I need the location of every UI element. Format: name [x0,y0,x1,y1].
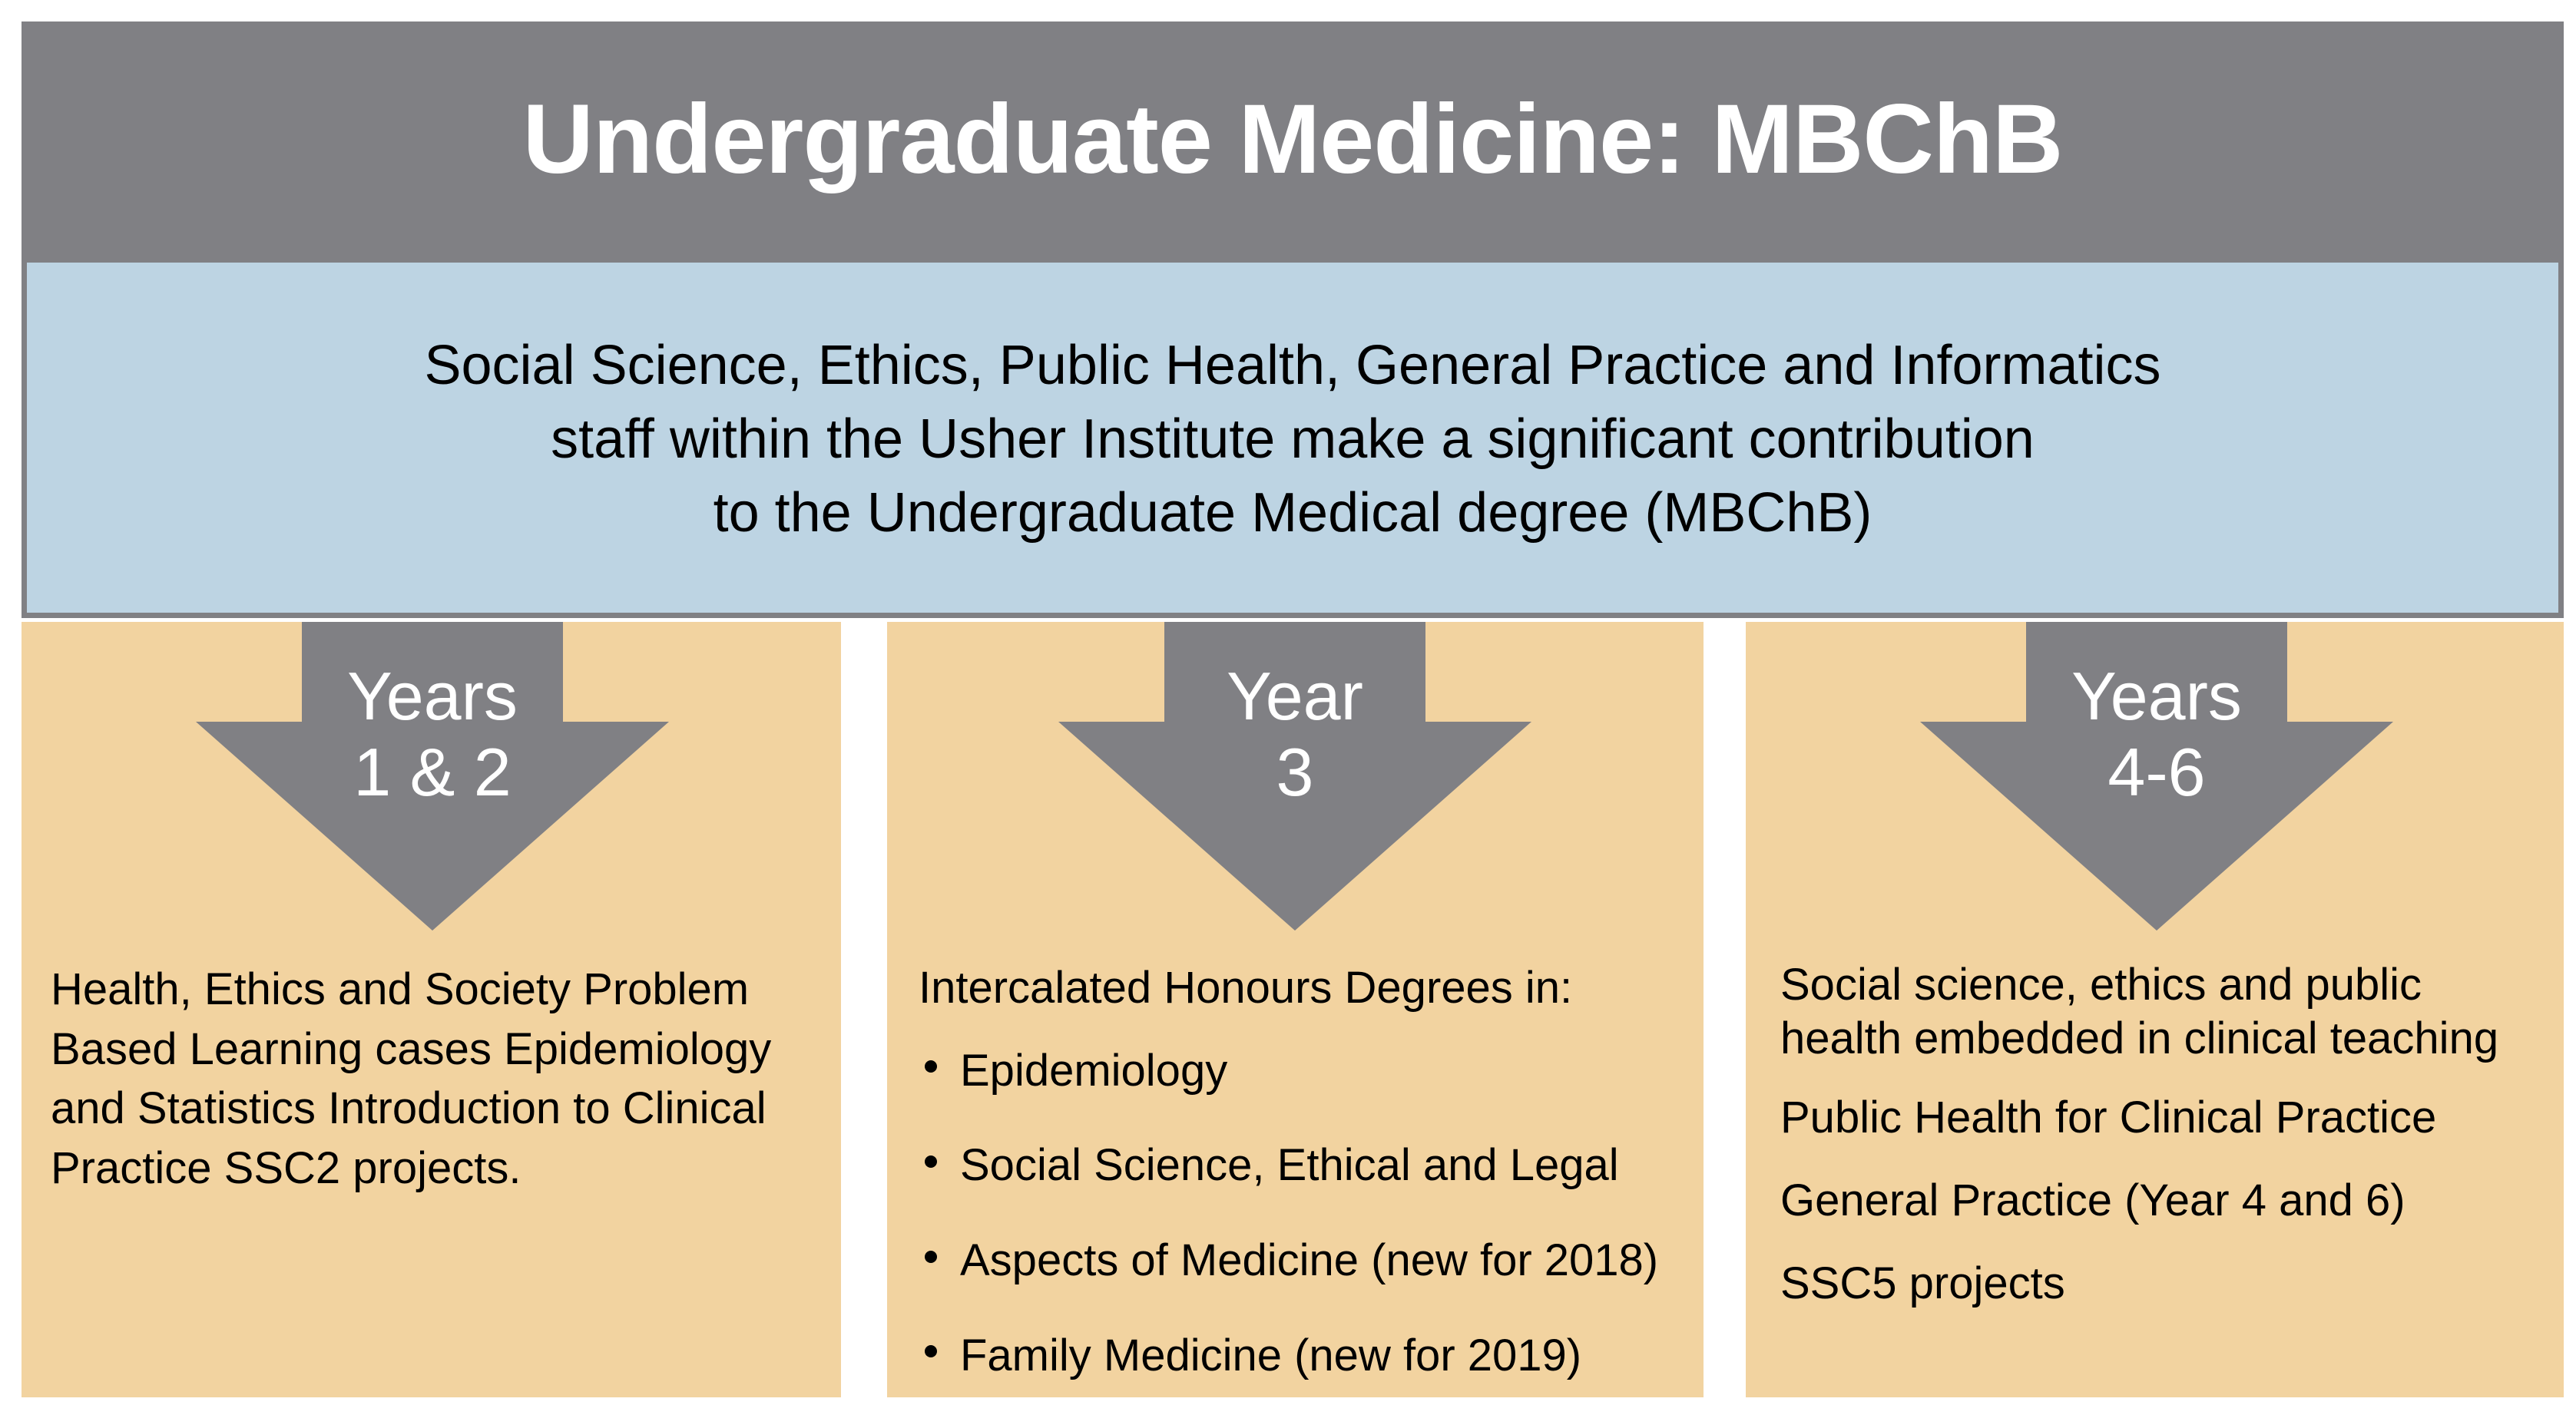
header-banner: Undergraduate Medicine: MBChB [22,21,2564,257]
stage-columns: Years 1 & 2 Year 3 Years 4-6 [22,622,2564,1397]
list-item-label: Epidemiology [960,1046,1227,1096]
bullet-dot-icon [925,1155,937,1168]
list-item: Social Science, Ethical and Legal [919,1136,1694,1195]
down-arrow-icon [1058,622,1531,931]
intro-line-2: staff within the Usher Institute make a … [424,403,2160,477]
activity-list: Public Health for Clinical Practice Gene… [1780,1088,2548,1313]
down-arrow-icon [1920,622,2393,931]
list-item-label: Family Medicine (new for 2019) [960,1331,1581,1380]
stage-paragraph: Health, Ethics and Society Problem Based… [51,960,819,1198]
bullet-dot-icon [925,1251,937,1263]
intro-line-3: to the Undergraduate Medical degree (MBC… [424,477,2160,550]
intro-line-1: Social Science, Ethics, Public Health, G… [424,329,2160,403]
down-arrow-years-4-6: Years 4-6 [1920,622,2393,931]
list-item-label: Public Health for Clinical Practice [1780,1088,2548,1148]
list-item-label: Aspects of Medicine (new for 2018) [960,1235,1658,1285]
down-arrow-icon [196,622,669,931]
page-title: Undergraduate Medicine: MBChB [523,91,2063,189]
stage-body-years-4-6: Social science, ethics and public health… [1780,958,2548,1313]
list-item-label: Social Science, Ethical and Legal [960,1140,1619,1190]
intro-panel: Social Science, Ethics, Public Health, G… [22,257,2564,618]
list-item-label: General Practice (Year 4 and 6) [1780,1171,2548,1231]
stage-body-year-3: Intercalated Honours Degrees in: Epidemi… [919,958,1694,1386]
list-item: Aspects of Medicine (new for 2018) [919,1231,1694,1291]
intro-text: Social Science, Ethics, Public Health, G… [424,329,2160,550]
list-item-label: SSC5 projects [1780,1254,2548,1314]
list-item: Family Medicine (new for 2019) [919,1326,1694,1386]
stage-lead-text: Intercalated Honours Degrees in: [919,958,1694,1018]
bullet-dot-icon [925,1345,937,1357]
infographic-canvas: Undergraduate Medicine: MBChB Social Sci… [0,0,2576,1415]
down-arrow-years-1-2: Years 1 & 2 [196,622,669,931]
bullet-dot-icon [925,1060,937,1073]
stage-paragraph: Social science, ethics and public health… [1780,958,2548,1065]
stage-body-years-1-2: Health, Ethics and Society Problem Based… [51,960,819,1198]
degree-list: Epidemiology Social Science, Ethical and… [919,1041,1694,1386]
down-arrow-year-3: Year 3 [1058,622,1531,931]
list-item: Epidemiology [919,1041,1694,1101]
